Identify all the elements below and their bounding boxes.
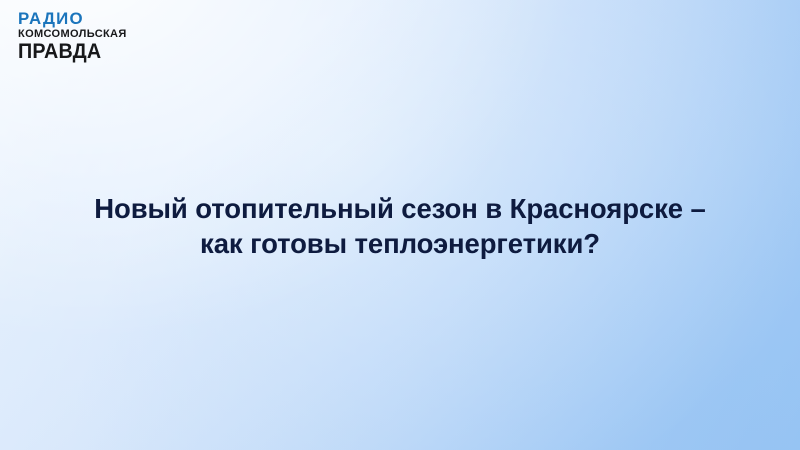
slide-canvas: РАДИО КОМСОМОЛЬСКАЯ ПРАВДА Новый отопите… [0,0,800,450]
radio-kp-logo: РАДИО КОМСОМОЛЬСКАЯ ПРАВДА [18,11,128,62]
slide-title-line-2: как готовы теплоэнергетики? [24,226,776,261]
logo-line-komsomolskaya: КОМСОМОЛЬСКАЯ [18,29,127,40]
slide-title: Новый отопительный сезон в Красноярске –… [0,191,800,261]
slide-title-line-1: Новый отопительный сезон в Красноярске – [24,191,776,226]
logo-line-pravda: ПРАВДА [18,41,122,62]
logo-line-radio: РАДИО [18,11,131,28]
